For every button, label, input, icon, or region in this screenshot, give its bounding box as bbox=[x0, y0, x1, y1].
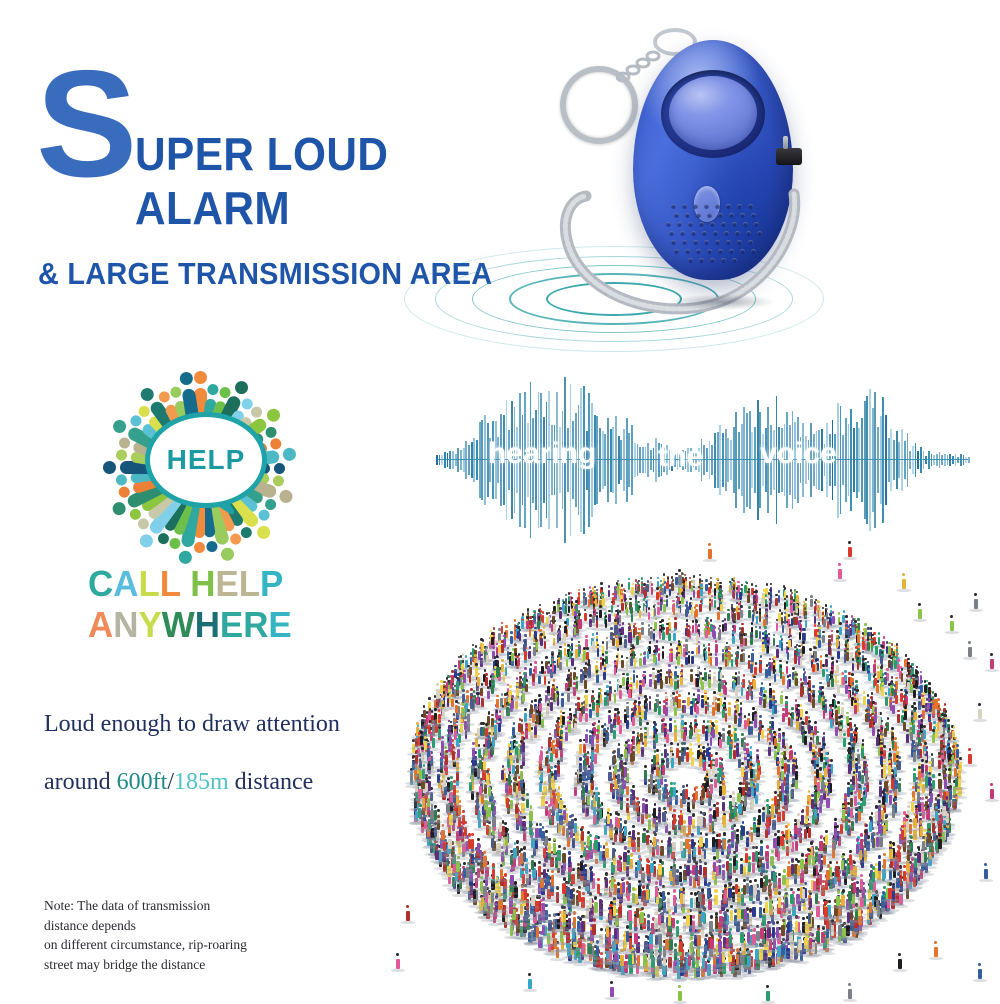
slogan-letter: W bbox=[162, 604, 195, 645]
device-shadow bbox=[668, 294, 776, 310]
disclaimer-note: Note: The data of transmission distance … bbox=[44, 896, 344, 974]
speech-bubble: HELP bbox=[145, 412, 267, 508]
slogan-letter: E bbox=[268, 604, 291, 645]
call-help-logo: HELP bbox=[92, 368, 308, 568]
slogan-letter: H bbox=[195, 604, 220, 645]
audio-waveform bbox=[436, 388, 968, 533]
headline-drop-cap: S bbox=[36, 62, 133, 187]
copy-line-2: around 600ft/185m distance bbox=[44, 770, 384, 795]
slogan-letter: E bbox=[220, 604, 243, 645]
slogan-letter: L bbox=[160, 563, 181, 604]
slogan-letter: E bbox=[215, 563, 238, 604]
slogan-letter: R bbox=[243, 604, 268, 645]
distance-feet: 600ft bbox=[117, 769, 168, 795]
note-line-4: street may bridge the distance bbox=[44, 955, 344, 975]
distance-separator: / bbox=[167, 769, 174, 795]
led-lens bbox=[669, 76, 757, 150]
slogan-letter: Y bbox=[138, 604, 161, 645]
slogan-line-2: ANYWHERE bbox=[88, 607, 331, 644]
slogan-letter: L bbox=[138, 563, 159, 604]
headline-text: UPER LOUD ALARM bbox=[135, 127, 522, 235]
headline-block: S UPER LOUD ALARM bbox=[36, 62, 556, 241]
slogan-letter: L bbox=[239, 563, 260, 604]
slogan-letter: A bbox=[113, 563, 138, 604]
crowd-illustration bbox=[378, 540, 1000, 1000]
slogan-letter bbox=[180, 563, 190, 604]
slogan-letter: P bbox=[260, 563, 283, 604]
slogan-block: CALL HELP ANYWHERE bbox=[88, 566, 338, 643]
slogan-letter: C bbox=[88, 563, 113, 604]
copy-suffix: distance bbox=[229, 769, 314, 795]
slogan-letter: N bbox=[113, 604, 138, 645]
copy-prefix: around bbox=[44, 769, 117, 795]
speech-bubble-label: HELP bbox=[167, 444, 246, 476]
pull-pin bbox=[776, 148, 802, 165]
headline-row: S UPER LOUD ALARM bbox=[36, 62, 556, 241]
alarm-device-photo bbox=[548, 8, 848, 348]
slogan-line-1: CALL HELP bbox=[88, 566, 331, 603]
slogan-letter: H bbox=[190, 563, 215, 604]
distance-meters: 185m bbox=[174, 769, 229, 795]
slogan-letter: A bbox=[88, 604, 113, 645]
note-line-3: on different circumstance, rip-roaring bbox=[44, 935, 344, 955]
copy-line-1: Loud enough to draw attention bbox=[44, 712, 384, 737]
product-marketing-image: S UPER LOUD ALARM & LARGE TRANSMISSION A… bbox=[0, 0, 1000, 1000]
note-line-1: Note: The data of transmission bbox=[44, 896, 344, 916]
body-copy: Loud enough to draw attention around 600… bbox=[44, 712, 384, 795]
note-line-2: distance depends bbox=[44, 916, 344, 936]
